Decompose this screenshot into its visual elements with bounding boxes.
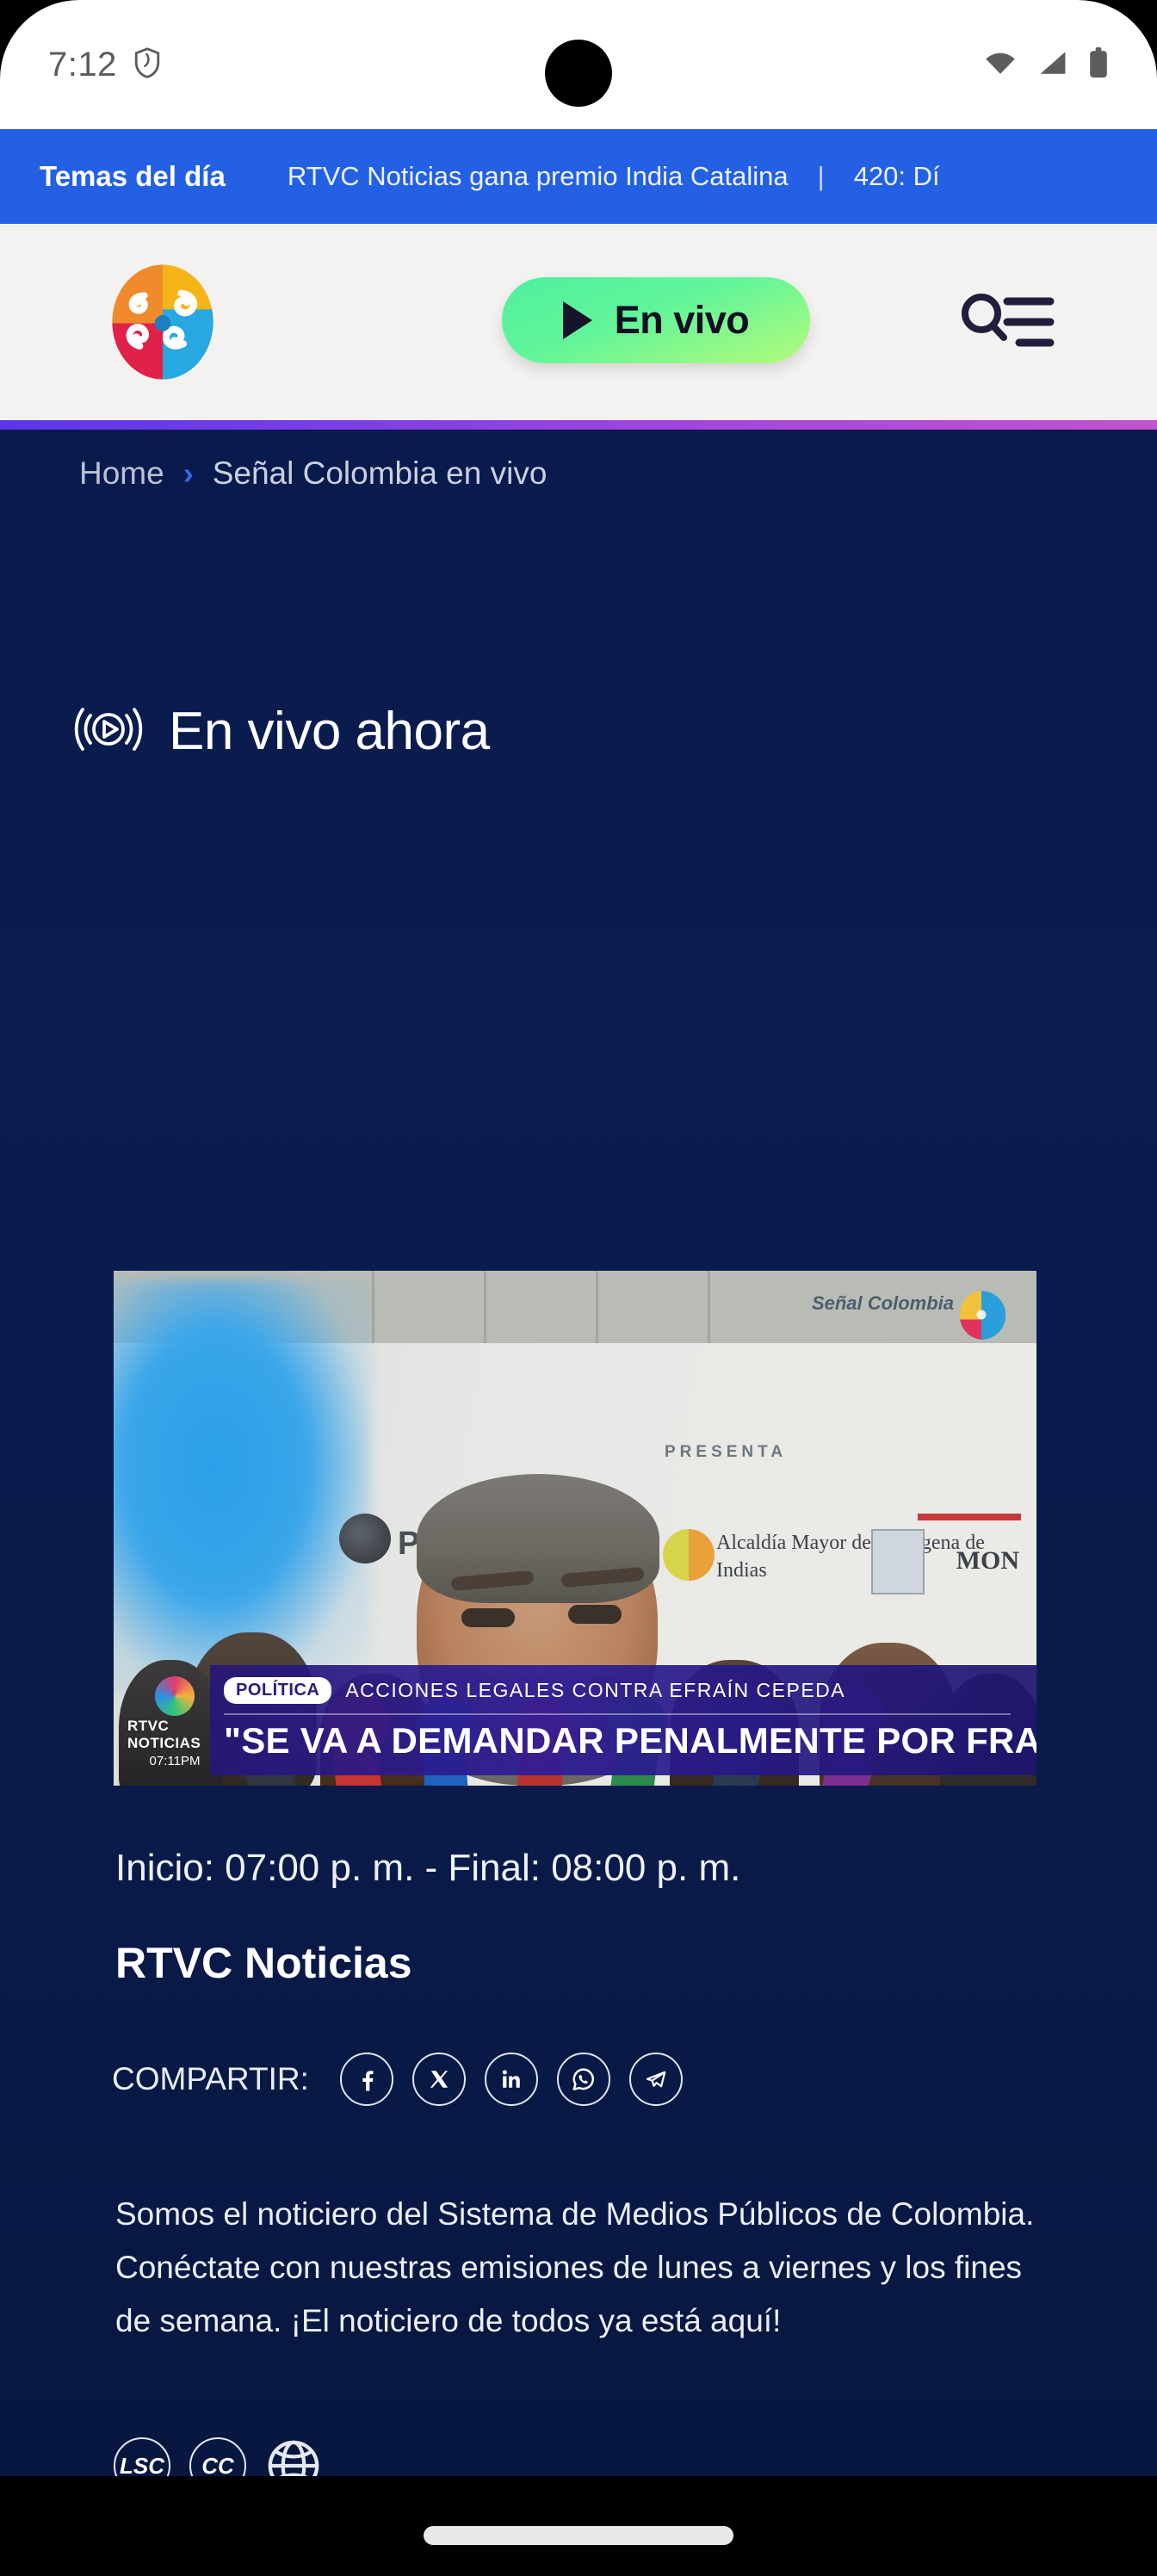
program-title: RTVC Noticias [115, 1938, 412, 1988]
chyron-subtitle: ACCIONES LEGALES CONTRA EFRAÍN CEPEDA [345, 1679, 845, 1702]
share-row: COMPARTIR: [112, 2053, 683, 2106]
ticker-item[interactable]: RTVC Noticias gana premio India Catalina [288, 161, 789, 192]
video-presenta-text: PRESENTA [665, 1443, 787, 1462]
program-schedule: Inicio: 07:00 p. m. - Final: 08:00 p. m. [115, 1847, 740, 1890]
cc-label: CC [201, 2453, 234, 2477]
news-ticker[interactable]: Temas del día RTVC Noticias gana premio … [0, 129, 1157, 224]
ticker-separator: | [818, 161, 825, 192]
sponsor-1-mark [339, 1514, 391, 1564]
status-time: 7:12 [48, 46, 117, 84]
video-chyron: RTVC NOTICIAS 07:11PM POLÍTICA ACCIONES … [114, 1656, 1036, 1786]
rtvc-noticias-mark [155, 1676, 195, 1716]
breadcrumb-home[interactable]: Home [79, 455, 164, 492]
camera-punch-hole [545, 40, 612, 107]
sponsor-3-mark [871, 1529, 925, 1595]
cellular-signal-icon [1036, 49, 1069, 81]
video-channel-logo: RTVC NOTICIAS 07:11PM [127, 1670, 222, 1774]
lsc-sign-language-icon[interactable]: LSC [114, 2437, 170, 2476]
main-content: Home › Señal Colombia en vivo En vivo ah… [0, 430, 1157, 2476]
video-channel-logo-text: RTVC NOTICIAS [127, 1718, 222, 1752]
sponsor-3-bar [918, 1514, 1021, 1520]
play-triangle-icon [563, 301, 592, 339]
search-menu-icon[interactable] [959, 291, 1055, 353]
video-blue-light [114, 1279, 372, 1693]
closed-captions-icon[interactable]: CC [189, 2437, 246, 2476]
video-channel-watermark: Señal Colombia [812, 1293, 954, 1313]
wifi-icon [983, 49, 1018, 81]
chevron-right-icon: › [183, 455, 194, 492]
share-label: COMPARTIR: [112, 2061, 309, 2097]
senal-colombia-mark [957, 1290, 1005, 1340]
video-channel-time: 07:11PM [150, 1754, 201, 1768]
gesture-pill[interactable] [424, 2526, 733, 2545]
live-video-player[interactable]: Señal Colombia PRESENTA PRI Alcaldía May… [114, 1271, 1036, 1786]
chyron-category-tag: POLÍTICA [224, 1677, 331, 1704]
video-sponsor-3: MON [956, 1546, 1019, 1576]
ticker-items: RTVC Noticias gana premio India Catalina… [288, 161, 940, 192]
x-twitter-icon[interactable] [412, 2053, 466, 2106]
shield-icon [133, 46, 162, 84]
battery-icon [1088, 47, 1109, 83]
accent-gradient-strip [0, 420, 1157, 430]
phone-screen: 7:12 Temas del día RTVC Noticias gana pr… [0, 0, 1157, 2576]
system-navigation-bar [0, 2476, 1157, 2576]
chyron-headline: "SE VA A DEMANDAR PENALMENTE POR FRAUDE … [224, 1720, 1016, 1762]
live-button[interactable]: En vivo [502, 277, 810, 363]
live-now-heading-row: En vivo ahora [74, 701, 490, 762]
status-bar-right [983, 47, 1109, 83]
program-description: Somos el noticiero del Sistema de Medios… [115, 2188, 1036, 2348]
rtvc-logo[interactable] [105, 263, 220, 381]
status-bar-left: 7:12 [48, 46, 162, 84]
breadcrumb-current: Señal Colombia en vivo [213, 455, 548, 492]
live-broadcast-icon [74, 703, 143, 760]
linkedin-icon[interactable] [485, 2053, 538, 2106]
telegram-icon[interactable] [629, 2053, 683, 2106]
ticker-item[interactable]: 420: Dí [854, 161, 940, 192]
live-button-label: En vivo [615, 298, 750, 343]
live-now-title: En vivo ahora [169, 701, 490, 762]
globe-icon[interactable] [265, 2437, 322, 2476]
accessibility-row: LSC CC [114, 2437, 322, 2476]
lsc-label: LSC [120, 2453, 164, 2477]
facebook-icon[interactable] [340, 2053, 393, 2106]
whatsapp-icon[interactable] [557, 2053, 610, 2106]
site-header: En vivo [0, 224, 1157, 420]
breadcrumb: Home › Señal Colombia en vivo [79, 455, 547, 492]
sponsor-2-mark [663, 1529, 715, 1581]
ticker-label: Temas del día [40, 160, 226, 193]
